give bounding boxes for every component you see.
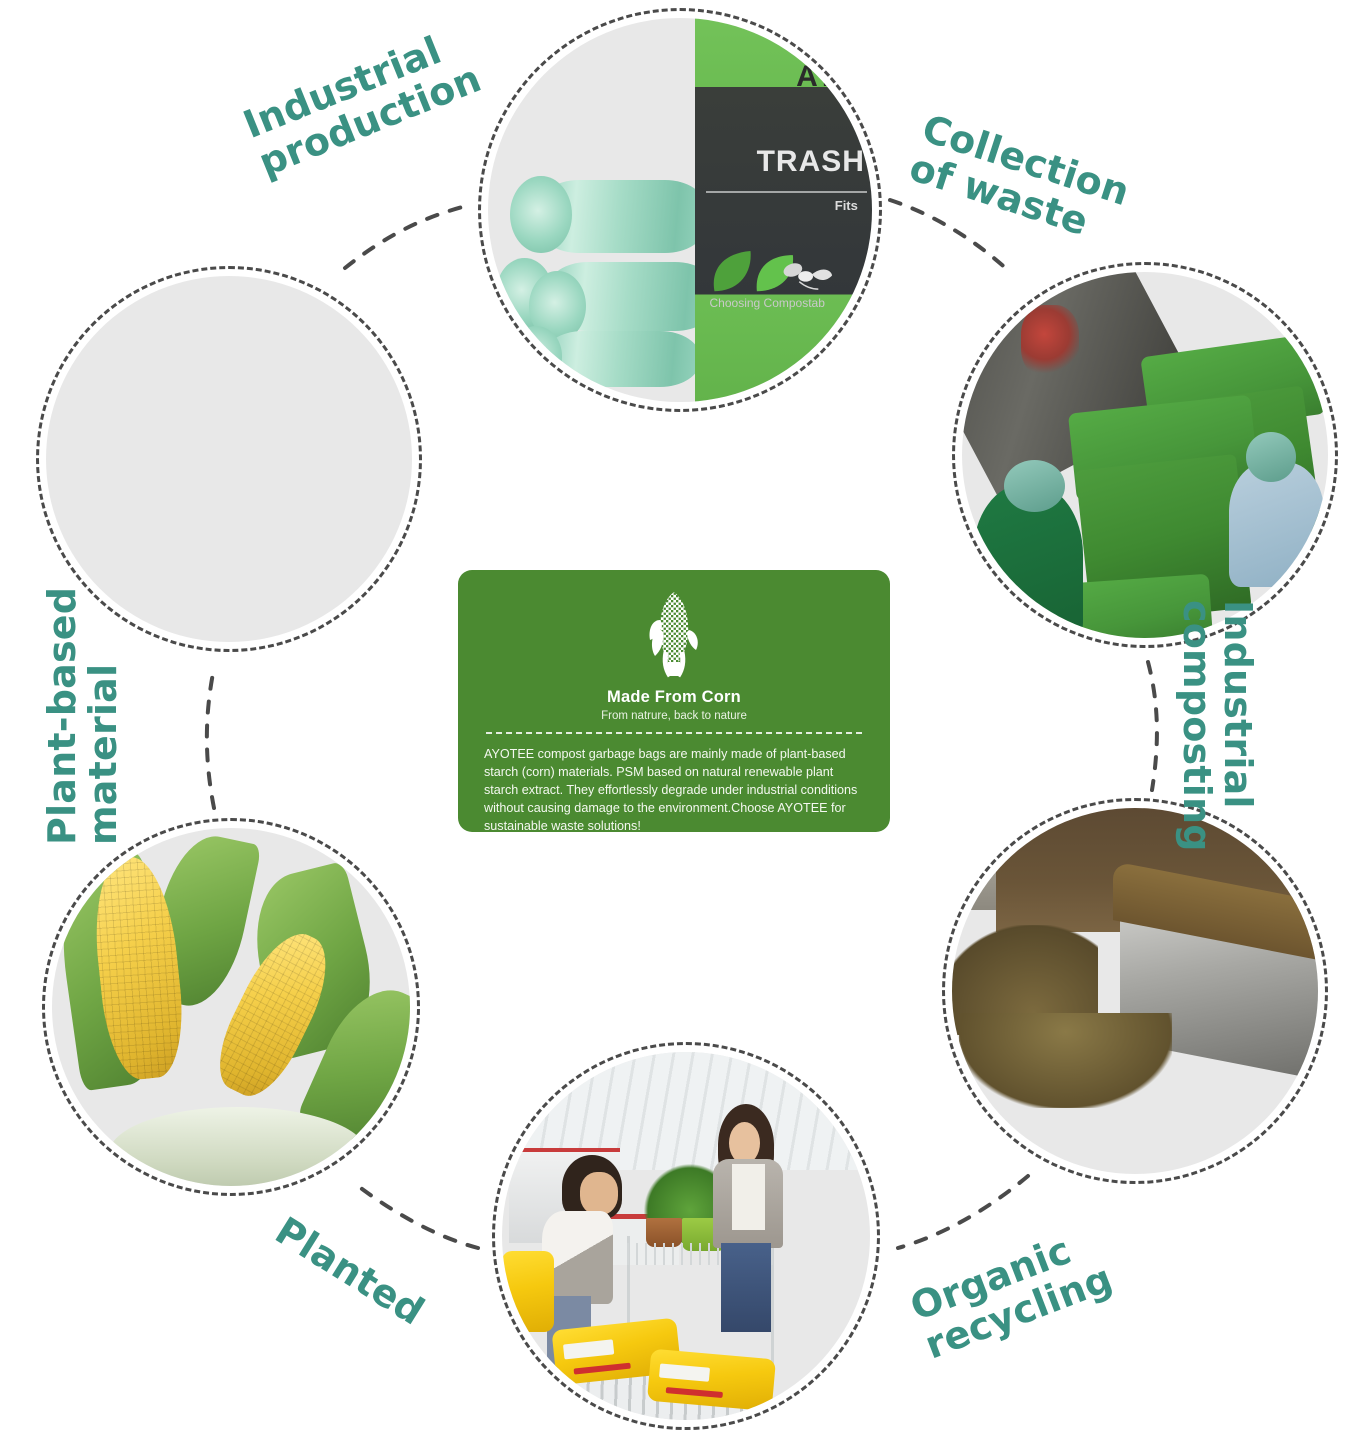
soil-bag-stack bbox=[502, 1251, 554, 1332]
photo-corn-cobs bbox=[52, 828, 410, 1186]
stage-label-organic-recycling: Organic recycling bbox=[905, 1220, 1118, 1367]
face bbox=[729, 1122, 760, 1164]
node-collection-of-waste[interactable] bbox=[952, 262, 1338, 648]
package-rule bbox=[706, 191, 867, 193]
photo-garden-centre-shoppers bbox=[502, 1052, 870, 1420]
node-corn-crop[interactable] bbox=[42, 818, 420, 1196]
connector-collection-to-composting bbox=[1148, 662, 1157, 790]
waste-debris bbox=[1021, 305, 1080, 378]
package-box: AYO TRASH Fits Choosing Compostab bbox=[695, 18, 872, 402]
soil-bag-band bbox=[665, 1387, 723, 1398]
soil-bag-label bbox=[659, 1364, 710, 1382]
package-tagline: Choosing Compostab bbox=[710, 296, 825, 310]
worker-cap bbox=[1246, 432, 1295, 482]
bag-roll bbox=[543, 331, 700, 387]
stage-label-planted: Planted bbox=[268, 1210, 431, 1333]
package-brand: AYO bbox=[796, 60, 861, 94]
stage-label-collection-of-waste: Collection of waste bbox=[905, 108, 1135, 252]
stage-label-plant-based-material: Plant-based material bbox=[42, 587, 124, 845]
compost-heap-bottom bbox=[959, 1013, 1171, 1108]
corn-cob-icon bbox=[646, 590, 702, 682]
sanitation-worker-blue-shirt bbox=[1229, 462, 1324, 586]
stage-label-industrial-production: Industrial production bbox=[238, 20, 487, 184]
shirt bbox=[732, 1164, 764, 1230]
soil-bag-band bbox=[573, 1363, 631, 1376]
worker-cap bbox=[1004, 460, 1065, 512]
sanitation-worker-green-uniform bbox=[973, 484, 1083, 638]
face bbox=[580, 1172, 618, 1215]
jeans bbox=[721, 1243, 771, 1331]
card-title: Made From Corn bbox=[484, 688, 864, 707]
node-industrial-composting[interactable] bbox=[942, 798, 1328, 1184]
card-subtitle: From natrure, back to nature bbox=[484, 710, 864, 722]
card-body-text: AYOTEE compost garbage bags are mainly m… bbox=[484, 746, 864, 835]
bag-roll-end bbox=[510, 176, 572, 253]
lifecycle-infographic: AYO TRASH Fits Choosing Compostab bbox=[0, 0, 1371, 1444]
connector-planted-to-material bbox=[207, 668, 214, 808]
package-subhead: Fits bbox=[835, 198, 858, 213]
node-industrial-production[interactable]: AYO TRASH Fits Choosing Compostab bbox=[478, 8, 882, 412]
photo-waste-collection-bins bbox=[962, 272, 1328, 638]
card-divider bbox=[486, 732, 862, 734]
photo-trash-bag-rolls-and-package: AYO TRASH Fits Choosing Compostab bbox=[488, 18, 872, 402]
soil-bag bbox=[647, 1348, 776, 1410]
package-headline: TRASH bbox=[757, 145, 865, 179]
stage-label-industrial-composting: Industrial composting bbox=[1176, 600, 1258, 852]
connector-recycling-to-planted bbox=[358, 1186, 478, 1248]
shopper-pushing-cart bbox=[708, 1111, 789, 1332]
made-from-corn-card: Made From Corn From natrure, back to nat… bbox=[458, 570, 890, 832]
connector-material-to-production bbox=[345, 205, 470, 268]
bag-roll-end bbox=[510, 326, 562, 386]
photo-compost-pile-loader bbox=[952, 808, 1318, 1174]
soil-bag-label bbox=[563, 1340, 614, 1359]
node-planted[interactable] bbox=[492, 1042, 880, 1430]
connector-composting-to-recycling bbox=[898, 1176, 1028, 1248]
